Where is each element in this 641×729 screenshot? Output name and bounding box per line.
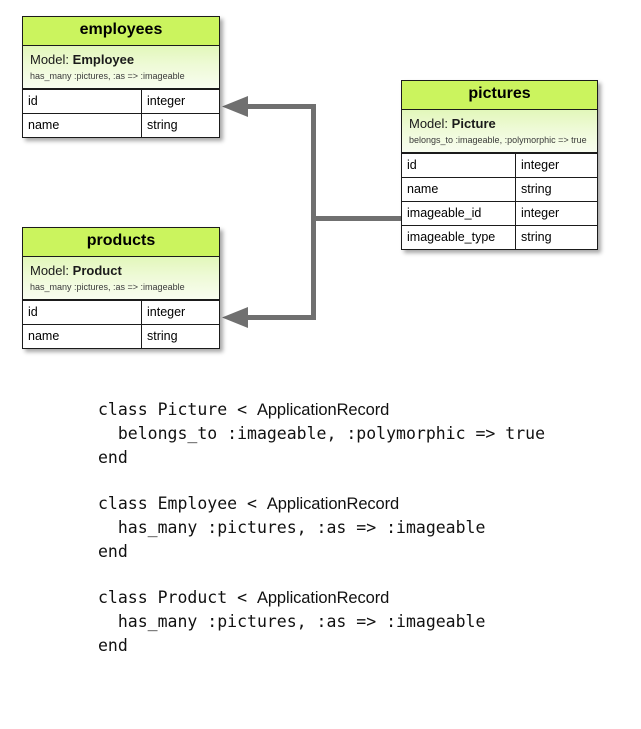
code-listing: class Picture < ApplicationRecord belong…: [0, 398, 641, 680]
code-line: end: [0, 634, 641, 658]
table-row: name string: [402, 177, 597, 201]
model-label: Model:: [30, 263, 69, 278]
code-text: belongs_to :imageable, :polymorphic => t…: [98, 424, 545, 443]
er-diagram: employees Model: Employee has_many :pict…: [0, 0, 641, 380]
table-row: id integer: [23, 300, 219, 324]
code-line: belongs_to :imageable, :polymorphic => t…: [0, 422, 641, 446]
attribute-type: string: [142, 114, 219, 137]
attribute-name: name: [402, 178, 516, 201]
code-block-employee: class Employee < ApplicationRecord has_m…: [0, 492, 641, 564]
table-row: name string: [23, 113, 219, 137]
table-row: imageable_type string: [402, 225, 597, 249]
code-text: has_many :pictures, :as => :imageable: [98, 518, 485, 537]
attribute-name: name: [23, 114, 142, 137]
attribute-name: id: [402, 154, 516, 177]
code-identifier: ApplicationRecord: [267, 495, 399, 513]
attribute-type: integer: [516, 202, 597, 225]
model-label: Model:: [409, 116, 448, 131]
model-line: Model: Product: [30, 264, 212, 279]
model-name: Employee: [73, 52, 134, 67]
arrowhead-employees: [222, 96, 248, 117]
model-name: Picture: [452, 116, 496, 131]
code-identifier: ApplicationRecord: [257, 589, 389, 607]
model-label: Model:: [30, 52, 69, 67]
table-row: imageable_id integer: [402, 201, 597, 225]
code-line: has_many :pictures, :as => :imageable: [0, 610, 641, 634]
code-text: end: [98, 636, 128, 655]
code-text: has_many :pictures, :as => :imageable: [98, 612, 485, 631]
code-line: class Picture < ApplicationRecord: [0, 398, 641, 422]
model-line: Model: Employee: [30, 53, 212, 68]
attribute-name: id: [23, 90, 142, 113]
table-row: name string: [23, 324, 219, 348]
entity-model-products: Model: Product has_many :pictures, :as =…: [23, 257, 219, 300]
attribute-name: name: [23, 325, 142, 348]
attribute-name: id: [23, 301, 142, 324]
model-association: has_many :pictures, :as => :imageable: [30, 71, 212, 82]
code-line: class Employee < ApplicationRecord: [0, 492, 641, 516]
entity-model-pictures: Model: Picture belongs_to :imageable, :p…: [402, 110, 597, 153]
code-text: end: [98, 448, 128, 467]
table-row: id integer: [23, 89, 219, 113]
code-block-picture: class Picture < ApplicationRecord belong…: [0, 398, 641, 470]
attribute-name: imageable_id: [402, 202, 516, 225]
code-line: has_many :pictures, :as => :imageable: [0, 516, 641, 540]
entity-model-employees: Model: Employee has_many :pictures, :as …: [23, 46, 219, 89]
code-text: class Employee <: [98, 494, 267, 513]
attribute-type: string: [516, 226, 597, 249]
attribute-type: string: [142, 325, 219, 348]
attribute-type: integer: [142, 301, 219, 324]
entity-title-employees: employees: [23, 17, 219, 46]
attribute-name: imageable_type: [402, 226, 516, 249]
code-text: class Picture <: [98, 400, 257, 419]
code-identifier: ApplicationRecord: [257, 401, 389, 419]
model-association: has_many :pictures, :as => :imageable: [30, 282, 212, 293]
code-line: end: [0, 446, 641, 470]
entity-table-employees[interactable]: employees Model: Employee has_many :pict…: [22, 16, 220, 138]
code-line: class Product < ApplicationRecord: [0, 586, 641, 610]
attribute-type: integer: [516, 154, 597, 177]
entity-title-products: products: [23, 228, 219, 257]
code-block-product: class Product < ApplicationRecord has_ma…: [0, 586, 641, 658]
arrowhead-products: [222, 307, 248, 328]
entity-table-pictures[interactable]: pictures Model: Picture belongs_to :imag…: [401, 80, 598, 250]
attribute-type: integer: [142, 90, 219, 113]
entity-title-pictures: pictures: [402, 81, 597, 110]
code-text: end: [98, 542, 128, 561]
entity-table-products[interactable]: products Model: Product has_many :pictur…: [22, 227, 220, 349]
code-text: class Product <: [98, 588, 257, 607]
model-name: Product: [73, 263, 122, 278]
table-row: id integer: [402, 153, 597, 177]
model-line: Model: Picture: [409, 117, 590, 132]
code-line: end: [0, 540, 641, 564]
attribute-type: string: [516, 178, 597, 201]
model-association: belongs_to :imageable, :polymorphic => t…: [409, 135, 590, 146]
